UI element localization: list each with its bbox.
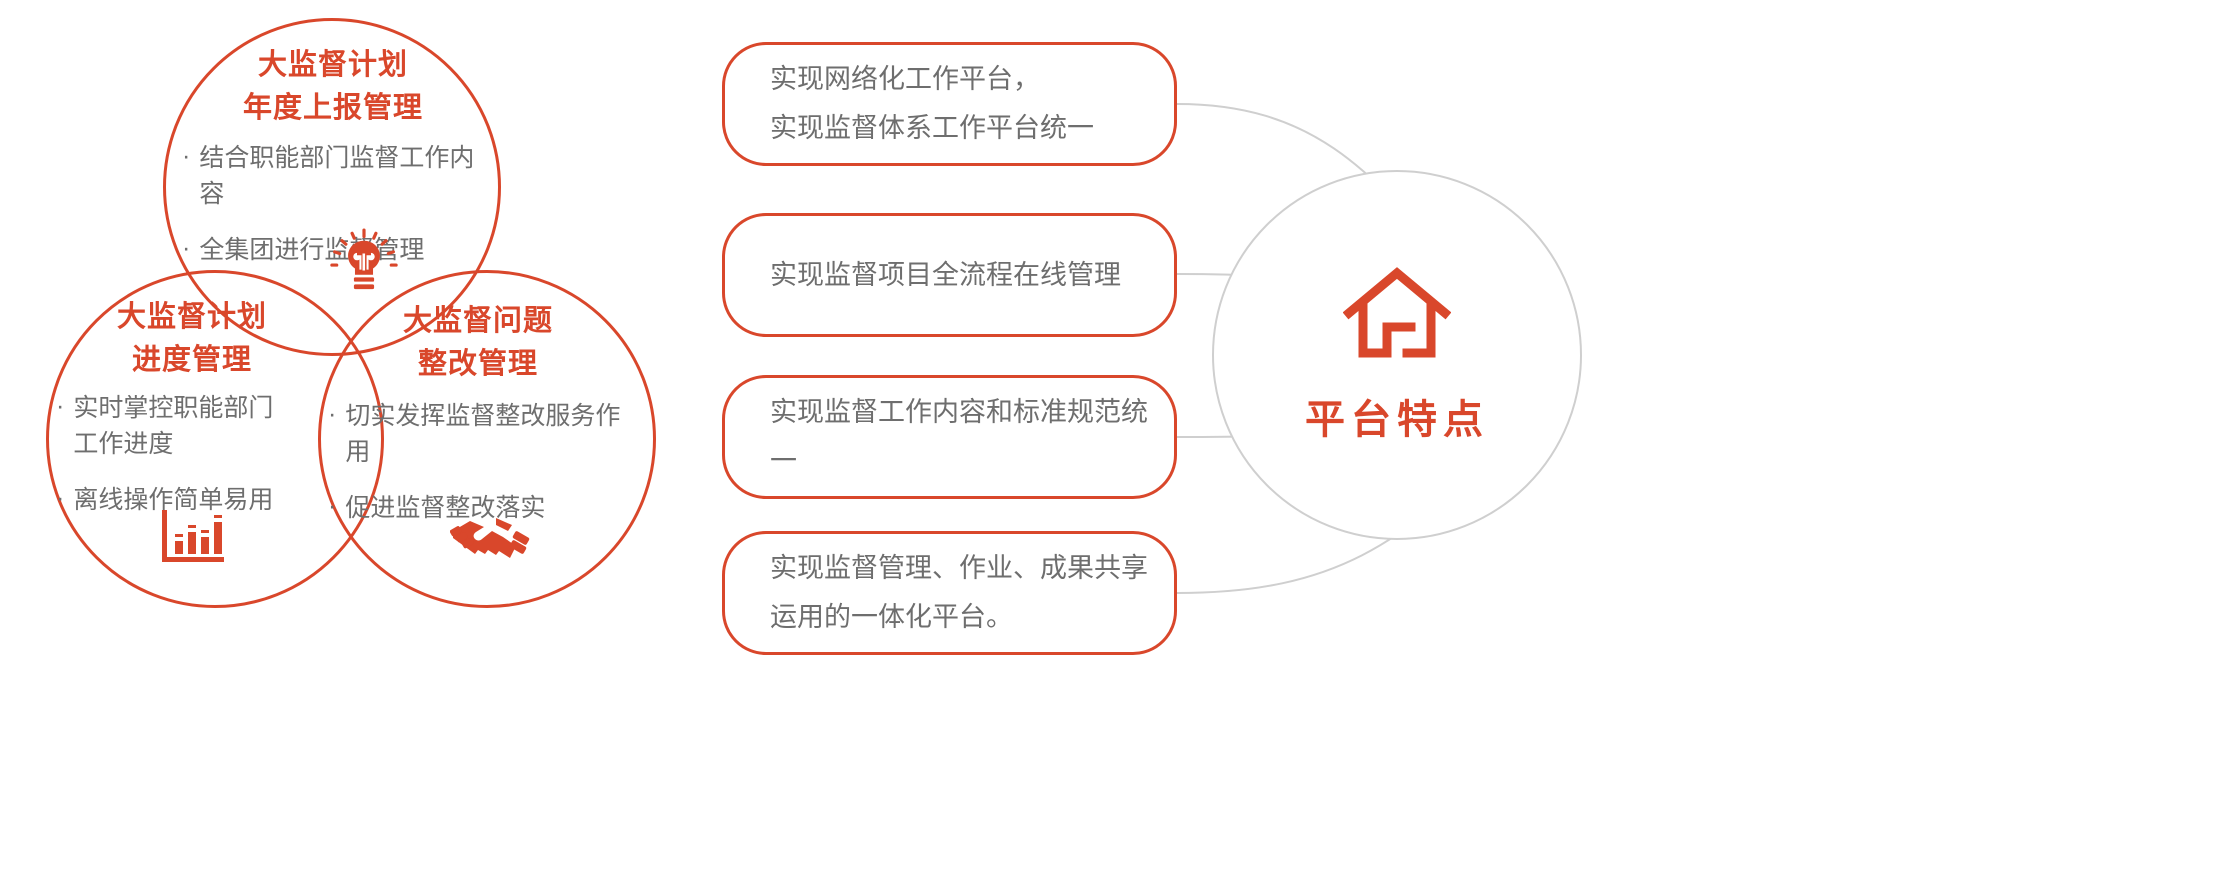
venn-bullet-text: 切实发挥监督整改服务作用 [345, 398, 634, 470]
bullet-marker-icon: · [182, 232, 190, 264]
feature-item-3[interactable]: 实现监督工作内容和标准规范统一 [722, 375, 1177, 499]
venn-title-progress-management-line2: 进度管理 [52, 339, 332, 382]
lightbulb-icon [330, 228, 398, 296]
feature-item-1[interactable]: 实现网络化工作平台， 实现监督体系工作平台统一 [722, 42, 1177, 166]
venn-content-issue-rectification: 大监督问题 整改管理 · 切实发挥监督整改服务作用 · 促进监督整改落实 [322, 300, 634, 546]
feature-item-2[interactable]: 实现监督项目全流程在线管理 [722, 213, 1177, 337]
venn-title-progress-management-line1: 大监督计划 [52, 296, 332, 339]
platform-hub-label: 平台特点 [1305, 387, 1489, 445]
bullet-marker-icon: · [182, 140, 190, 172]
venn-bullet-text: 实时掌控职能部门工作进度 [73, 390, 278, 462]
feature-line: 实现网络化工作平台， [770, 55, 1094, 104]
venn-bullet-list-progress-management: · 实时掌控职能部门工作进度 · 离线操作简单易用 [52, 390, 332, 518]
venn-content-progress-management: 大监督计划 进度管理 · 实时掌控职能部门工作进度 · 离线操作简单易用 [52, 296, 332, 538]
feature-line: 实现监督体系工作平台统一 [770, 104, 1094, 153]
venn-bullet-list-issue-rectification: · 切实发挥监督整改服务作用 · 促进监督整改落实 [322, 398, 634, 526]
platform-features: 实现网络化工作平台， 实现监督体系工作平台统一 实现监督项目全流程在线管理 实现… [700, 0, 2214, 870]
venn-bullet-text: 结合职能部门监督工作内容 [199, 140, 498, 212]
feature-line: 实现监督管理、作业、成果共享 [770, 544, 1148, 593]
venn-diagram: 大监督计划 年度上报管理 · 结合职能部门监督工作内容 · 全集团进行监督管理 [0, 0, 700, 870]
venn-title-issue-rectification-line1: 大监督问题 [322, 300, 634, 343]
feature-item-3-text: 实现监督工作内容和标准规范统一 [725, 388, 1174, 486]
feature-line: 实现监督工作内容和标准规范统一 [770, 388, 1148, 486]
feature-line: 运用的一体化平台。 [770, 593, 1148, 642]
bullet-marker-icon: · [328, 490, 336, 522]
home-icon [1343, 265, 1451, 361]
feature-line: 实现监督项目全流程在线管理 [770, 251, 1121, 300]
venn-title-annual-report-line1: 大监督计划 [168, 44, 498, 87]
feature-item-4[interactable]: 实现监督管理、作业、成果共享 运用的一体化平台。 [722, 531, 1177, 655]
bullet-marker-icon: · [56, 390, 64, 422]
bullet-marker-icon: · [56, 482, 64, 514]
feature-item-1-text: 实现网络化工作平台， 实现监督体系工作平台统一 [725, 55, 1120, 153]
venn-bullet-item: · 切实发挥监督整改服务作用 [328, 398, 634, 470]
bullet-marker-icon: · [328, 398, 336, 430]
platform-hub[interactable]: 平台特点 [1212, 170, 1582, 540]
venn-bullet-item: · 结合职能部门监督工作内容 [182, 140, 498, 212]
feature-item-2-text: 实现监督项目全流程在线管理 [725, 251, 1147, 300]
bar-chart-icon [160, 508, 230, 570]
handshake-icon [450, 512, 532, 568]
venn-title-annual-report-line2: 年度上报管理 [168, 87, 498, 130]
feature-item-4-text: 实现监督管理、作业、成果共享 运用的一体化平台。 [725, 544, 1174, 642]
venn-title-issue-rectification-line2: 整改管理 [322, 343, 634, 386]
venn-bullet-item: · 实时掌控职能部门工作进度 [56, 390, 332, 462]
diagram-canvas: 大监督计划 年度上报管理 · 结合职能部门监督工作内容 · 全集团进行监督管理 [0, 0, 2214, 870]
